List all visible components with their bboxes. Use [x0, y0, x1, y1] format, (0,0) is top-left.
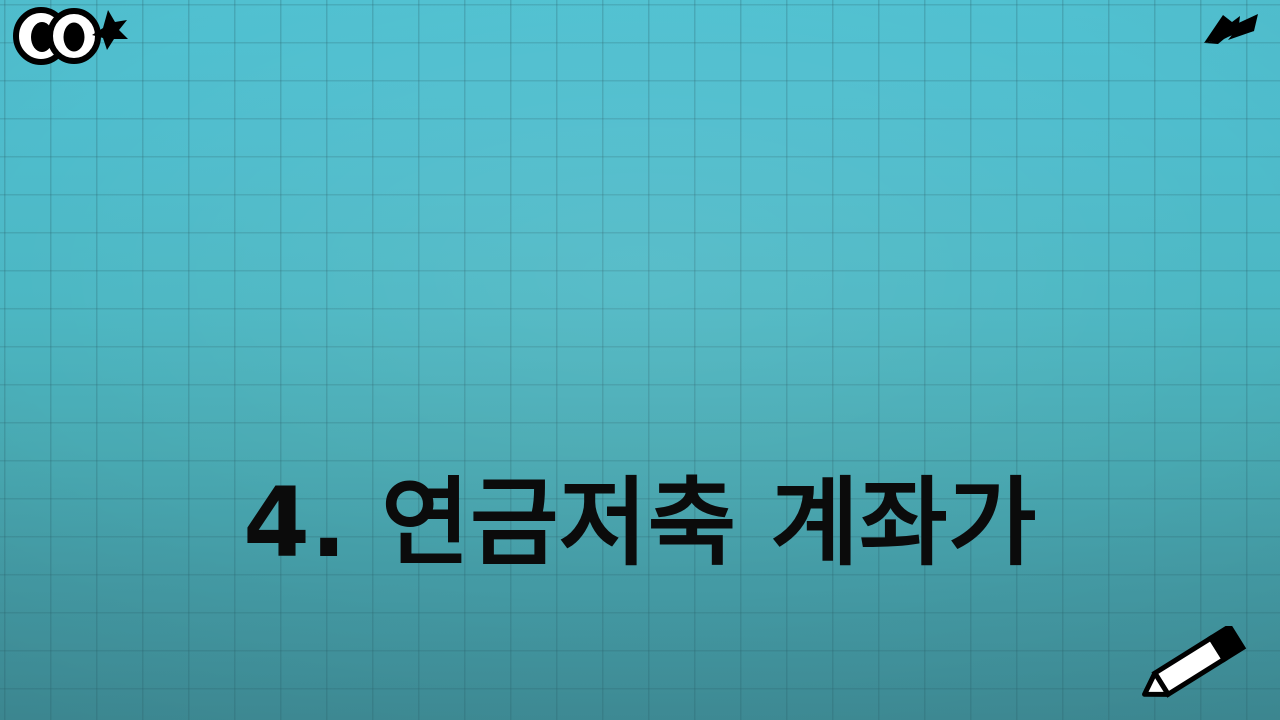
slide-canvas: 4. 연금저축 계좌가 리밸런싱에 최적화된 이유	[0, 0, 1280, 720]
eyes-icon	[16, 10, 98, 62]
page-title-line-1: 4. 연금저축 계좌가	[0, 466, 1280, 581]
eyes-star-logo-svg	[8, 4, 128, 66]
arrow-down-left-icon	[1202, 6, 1260, 52]
page-title: 4. 연금저축 계좌가 리밸런싱에 최적화된 이유	[0, 236, 1280, 720]
eyes-star-logo	[8, 4, 128, 66]
arrow-down-left-icon-svg	[1202, 6, 1260, 52]
